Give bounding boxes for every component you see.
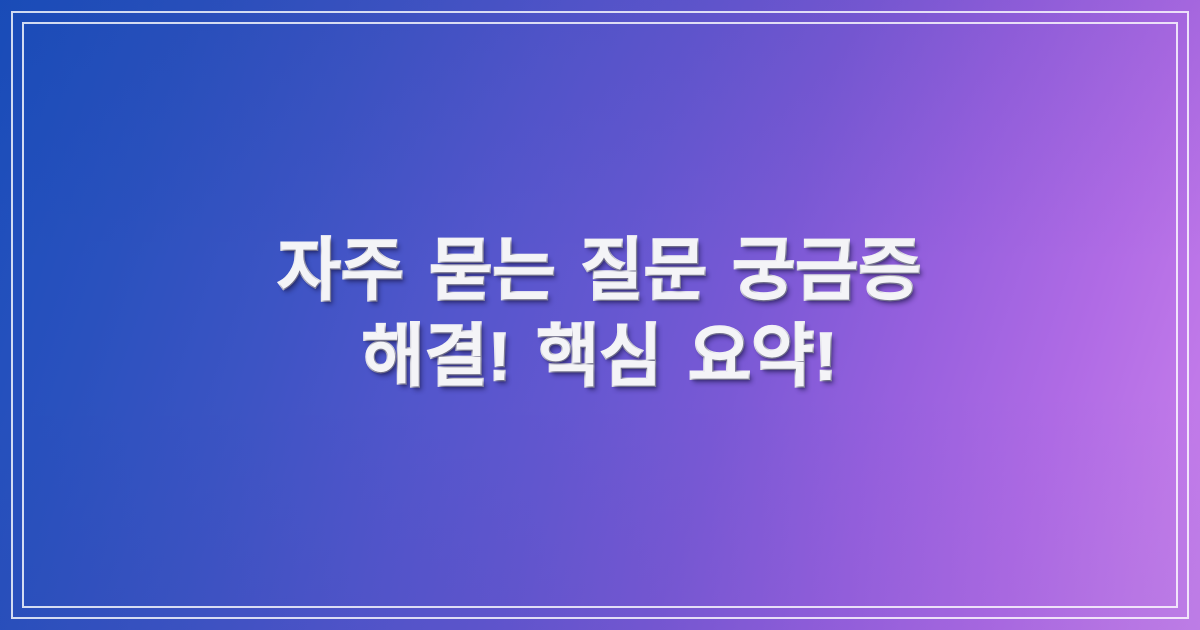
title-line-2: 해결! 핵심 요약! xyxy=(278,315,922,401)
title-line-1: 자주 묻는 질문 궁금증 xyxy=(278,229,922,315)
thumbnail-card: 자주 묻는 질문 궁금증 해결! 핵심 요약! xyxy=(0,0,1200,630)
page-title: 자주 묻는 질문 궁금증 해결! 핵심 요약! xyxy=(278,229,922,400)
title-container: 자주 묻는 질문 궁금증 해결! 핵심 요약! xyxy=(0,0,1200,630)
